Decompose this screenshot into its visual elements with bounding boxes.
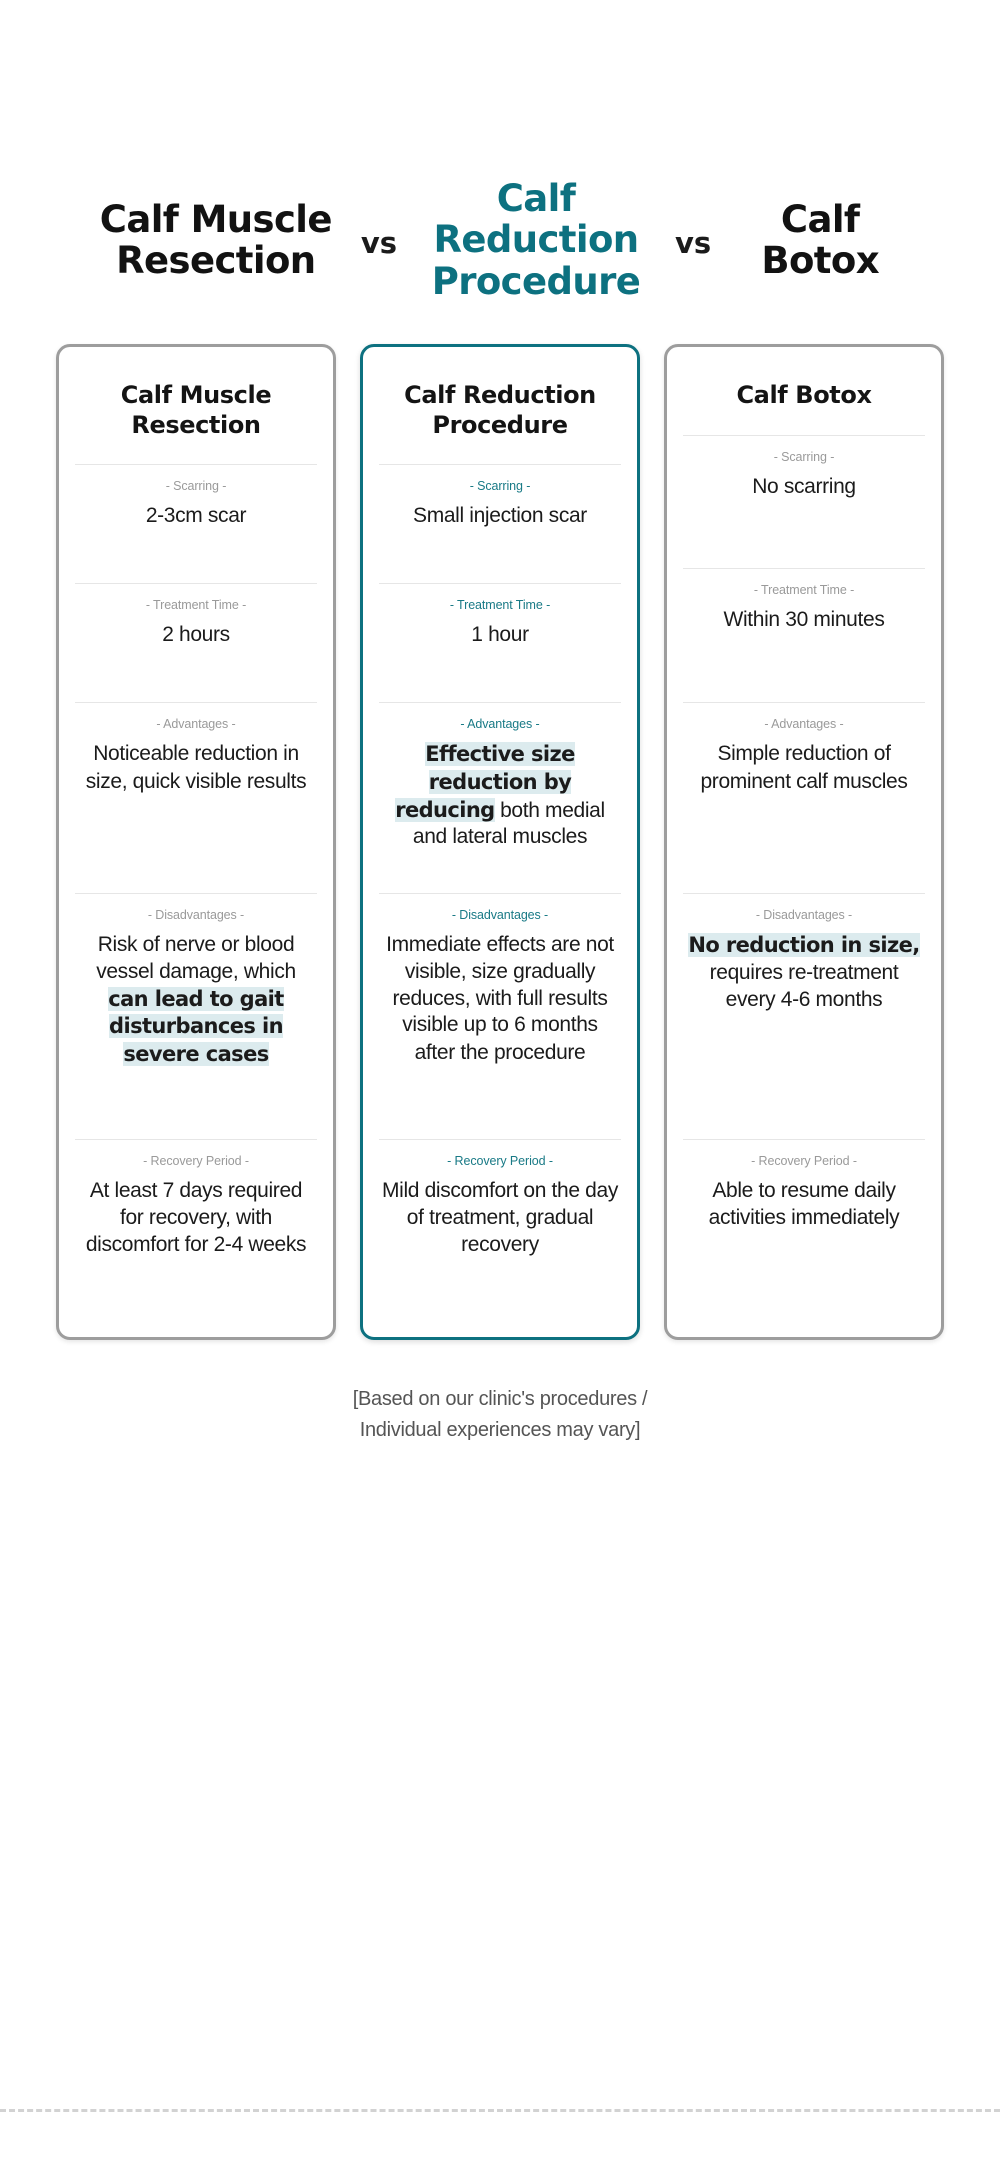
text-plain-pre: Immediate effects are not visible, size … bbox=[386, 933, 614, 1065]
section-label: - Treatment Time - bbox=[450, 598, 550, 612]
section-label: - Scarring - bbox=[166, 479, 227, 493]
vs-separator-1: vs bbox=[361, 220, 397, 260]
text-plain-pre: Simple reduction of prominent calf muscl… bbox=[700, 742, 907, 793]
section-label: - Scarring - bbox=[774, 450, 835, 464]
card-calf-botox[interactable]: Calf Botox - Scarring - No scarring - Tr… bbox=[664, 344, 944, 1340]
title-calf-reduction-procedure: Calf Reduction Procedure bbox=[411, 178, 661, 302]
section-disadvantages: - Disadvantages - Immediate effects are … bbox=[379, 894, 621, 1139]
section-scarring: - Scarring - No scarring bbox=[683, 436, 925, 569]
section-value: 2-3cm scar bbox=[146, 503, 246, 530]
card-title-line-1: Calf Botox bbox=[683, 381, 925, 410]
section-label: - Advantages - bbox=[764, 717, 843, 731]
section-advantages: - Advantages - Effective size reduction … bbox=[379, 703, 621, 893]
section-label: - Advantages - bbox=[460, 717, 539, 731]
title-line-3: Procedure bbox=[411, 261, 661, 302]
card-calf-reduction-procedure[interactable]: Calf Reduction Procedure - Scarring - Sm… bbox=[360, 344, 640, 1340]
section-label: - Recovery Period - bbox=[751, 1154, 857, 1168]
section-recovery-period: - Recovery Period - At least 7 days requ… bbox=[75, 1140, 317, 1315]
section-value: Able to resume daily activities immediat… bbox=[685, 1178, 923, 1232]
section-value: Within 30 minutes bbox=[724, 607, 885, 634]
footnote: [Based on our clinic's procedures / Indi… bbox=[353, 1384, 648, 1446]
title-line-1: Calf bbox=[725, 199, 915, 240]
card-title-line-2: Procedure bbox=[379, 411, 621, 440]
section-advantages: - Advantages - Simple reduction of promi… bbox=[683, 703, 925, 893]
section-label: - Recovery Period - bbox=[143, 1154, 249, 1168]
card-title-line-1: Calf Muscle bbox=[75, 381, 317, 410]
title-line-2: Resection bbox=[85, 240, 347, 281]
text-plain-pre: Risk of nerve or blood vessel damage, wh… bbox=[96, 933, 296, 983]
card-title-line-2: Resection bbox=[75, 411, 317, 440]
section-recovery-period: - Recovery Period - Able to resume daily… bbox=[683, 1140, 925, 1315]
section-label: - Treatment Time - bbox=[754, 583, 854, 597]
section-value: No scarring bbox=[752, 474, 856, 501]
section-value: Mild discomfort on the day of treatment,… bbox=[381, 1178, 619, 1259]
infographic-page: Calf Muscle Resection vs Calf Reduction … bbox=[0, 0, 1000, 2163]
card-title-line-1: Calf Reduction bbox=[379, 381, 621, 410]
title-line-2: Botox bbox=[725, 240, 915, 281]
section-value: 2 hours bbox=[162, 622, 230, 649]
comparison-cards: Calf Muscle Resection - Scarring - 2-3cm… bbox=[56, 344, 944, 1340]
card-title: Calf Muscle Resection bbox=[75, 373, 317, 464]
text-highlight: No reduction in size, bbox=[688, 933, 919, 957]
footnote-line-1: [Based on our clinic's procedures / bbox=[353, 1384, 648, 1415]
section-treatment-time: - Treatment Time - 1 hour bbox=[379, 584, 621, 702]
section-label: - Disadvantages - bbox=[452, 908, 548, 922]
section-disadvantages: - Disadvantages - Risk of nerve or blood… bbox=[75, 894, 317, 1139]
bottom-dashed-divider bbox=[0, 2109, 1000, 2112]
section-value: Simple reduction of prominent calf muscl… bbox=[685, 741, 923, 796]
section-value: Small injection scar bbox=[413, 503, 587, 530]
section-value: Effective size reduction by reducing bot… bbox=[381, 741, 619, 852]
section-value: Immediate effects are not visible, size … bbox=[381, 932, 619, 1067]
footnote-line-2: Individual experiences may vary] bbox=[353, 1415, 648, 1446]
section-label: - Scarring - bbox=[470, 479, 531, 493]
text-highlight: can lead to gait disturbances in severe … bbox=[108, 987, 283, 1067]
card-title: Calf Reduction Procedure bbox=[379, 373, 621, 464]
section-value: No reduction in size, requires re-treatm… bbox=[685, 932, 923, 1014]
section-value: 1 hour bbox=[471, 622, 528, 649]
section-recovery-period: - Recovery Period - Mild discomfort on t… bbox=[379, 1140, 621, 1315]
section-label: - Treatment Time - bbox=[146, 598, 246, 612]
section-treatment-time: - Treatment Time - 2 hours bbox=[75, 584, 317, 702]
title-line-1: Calf Muscle bbox=[85, 199, 347, 240]
section-disadvantages: - Disadvantages - No reduction in size, … bbox=[683, 894, 925, 1139]
section-label: - Advantages - bbox=[156, 717, 235, 731]
title-calf-muscle-resection: Calf Muscle Resection bbox=[85, 199, 347, 282]
section-advantages: - Advantages - Noticeable reduction in s… bbox=[75, 703, 317, 893]
section-label: - Disadvantages - bbox=[148, 908, 244, 922]
section-value: At least 7 days required for recovery, w… bbox=[77, 1178, 315, 1259]
section-value: Risk of nerve or blood vessel damage, wh… bbox=[77, 932, 315, 1069]
title-line-1: Calf bbox=[411, 178, 661, 219]
card-calf-muscle-resection[interactable]: Calf Muscle Resection - Scarring - 2-3cm… bbox=[56, 344, 336, 1340]
section-scarring: - Scarring - Small injection scar bbox=[379, 465, 621, 583]
section-scarring: - Scarring - 2-3cm scar bbox=[75, 465, 317, 583]
section-treatment-time: - Treatment Time - Within 30 minutes bbox=[683, 569, 925, 702]
comparison-title: Calf Muscle Resection vs Calf Reduction … bbox=[40, 178, 960, 302]
section-label: - Recovery Period - bbox=[447, 1154, 553, 1168]
text-plain-post: requires re-treatment every 4-6 months bbox=[710, 961, 899, 1011]
title-line-2: Reduction bbox=[411, 219, 661, 260]
text-plain-pre: Noticeable reduction in size, quick visi… bbox=[86, 742, 306, 793]
section-value: Noticeable reduction in size, quick visi… bbox=[77, 741, 315, 796]
title-calf-botox: Calf Botox bbox=[725, 199, 915, 282]
card-title: Calf Botox bbox=[683, 373, 925, 434]
vs-separator-2: vs bbox=[675, 220, 711, 260]
section-label: - Disadvantages - bbox=[756, 908, 852, 922]
